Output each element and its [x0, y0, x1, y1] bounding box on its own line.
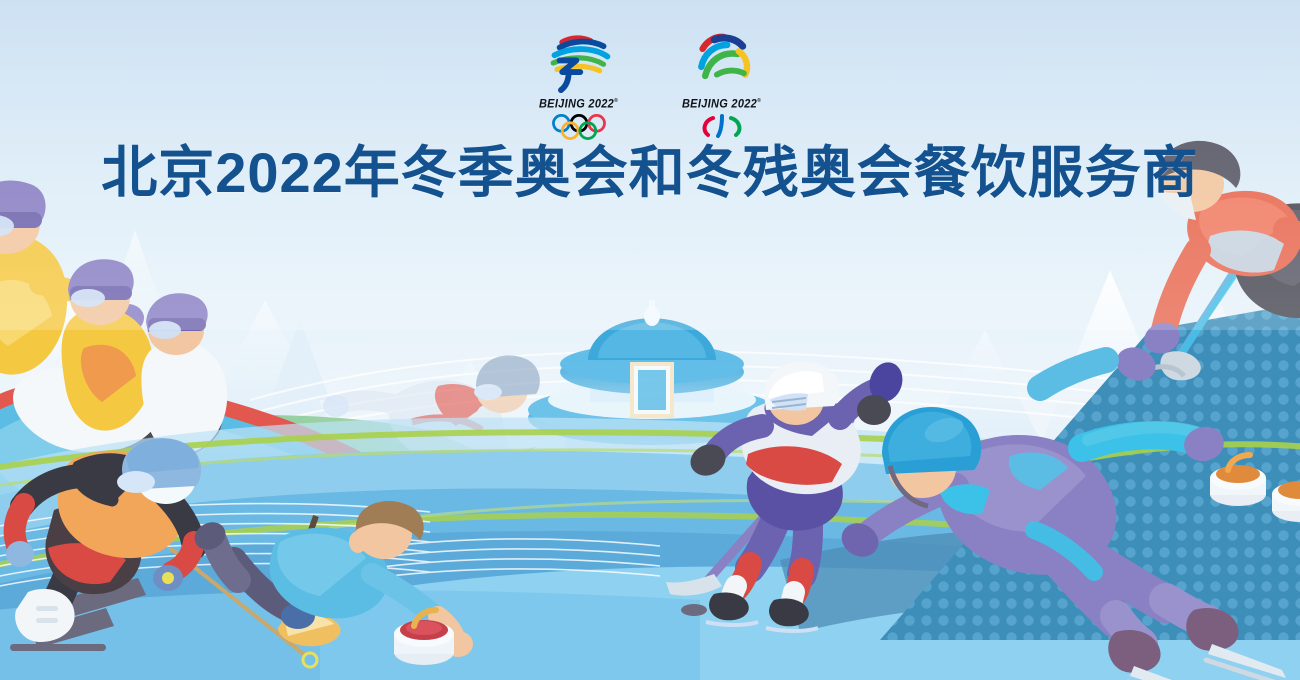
paralympic-wordmark: BEIJING 2022® — [682, 97, 761, 110]
olympic-emblem: BEIJING 2022® — [531, 32, 626, 140]
olympic-rings-icon — [548, 114, 610, 140]
emblem-row: BEIJING 2022® — [0, 32, 1300, 140]
page-title: 北京2022年冬季奥会和冬残奥会餐饮服务商 — [0, 141, 1300, 205]
paralympic-agitos-icon — [696, 114, 748, 138]
beijing-2022-olympic-mark — [540, 32, 618, 94]
olympic-wordmark: BEIJING 2022® — [539, 97, 618, 110]
paralympic-emblem: BEIJING 2022® — [674, 32, 769, 138]
beijing-2022-banner: BEIJING 2022® — [0, 0, 1300, 680]
beijing-2022-paralympic-mark — [683, 32, 761, 94]
